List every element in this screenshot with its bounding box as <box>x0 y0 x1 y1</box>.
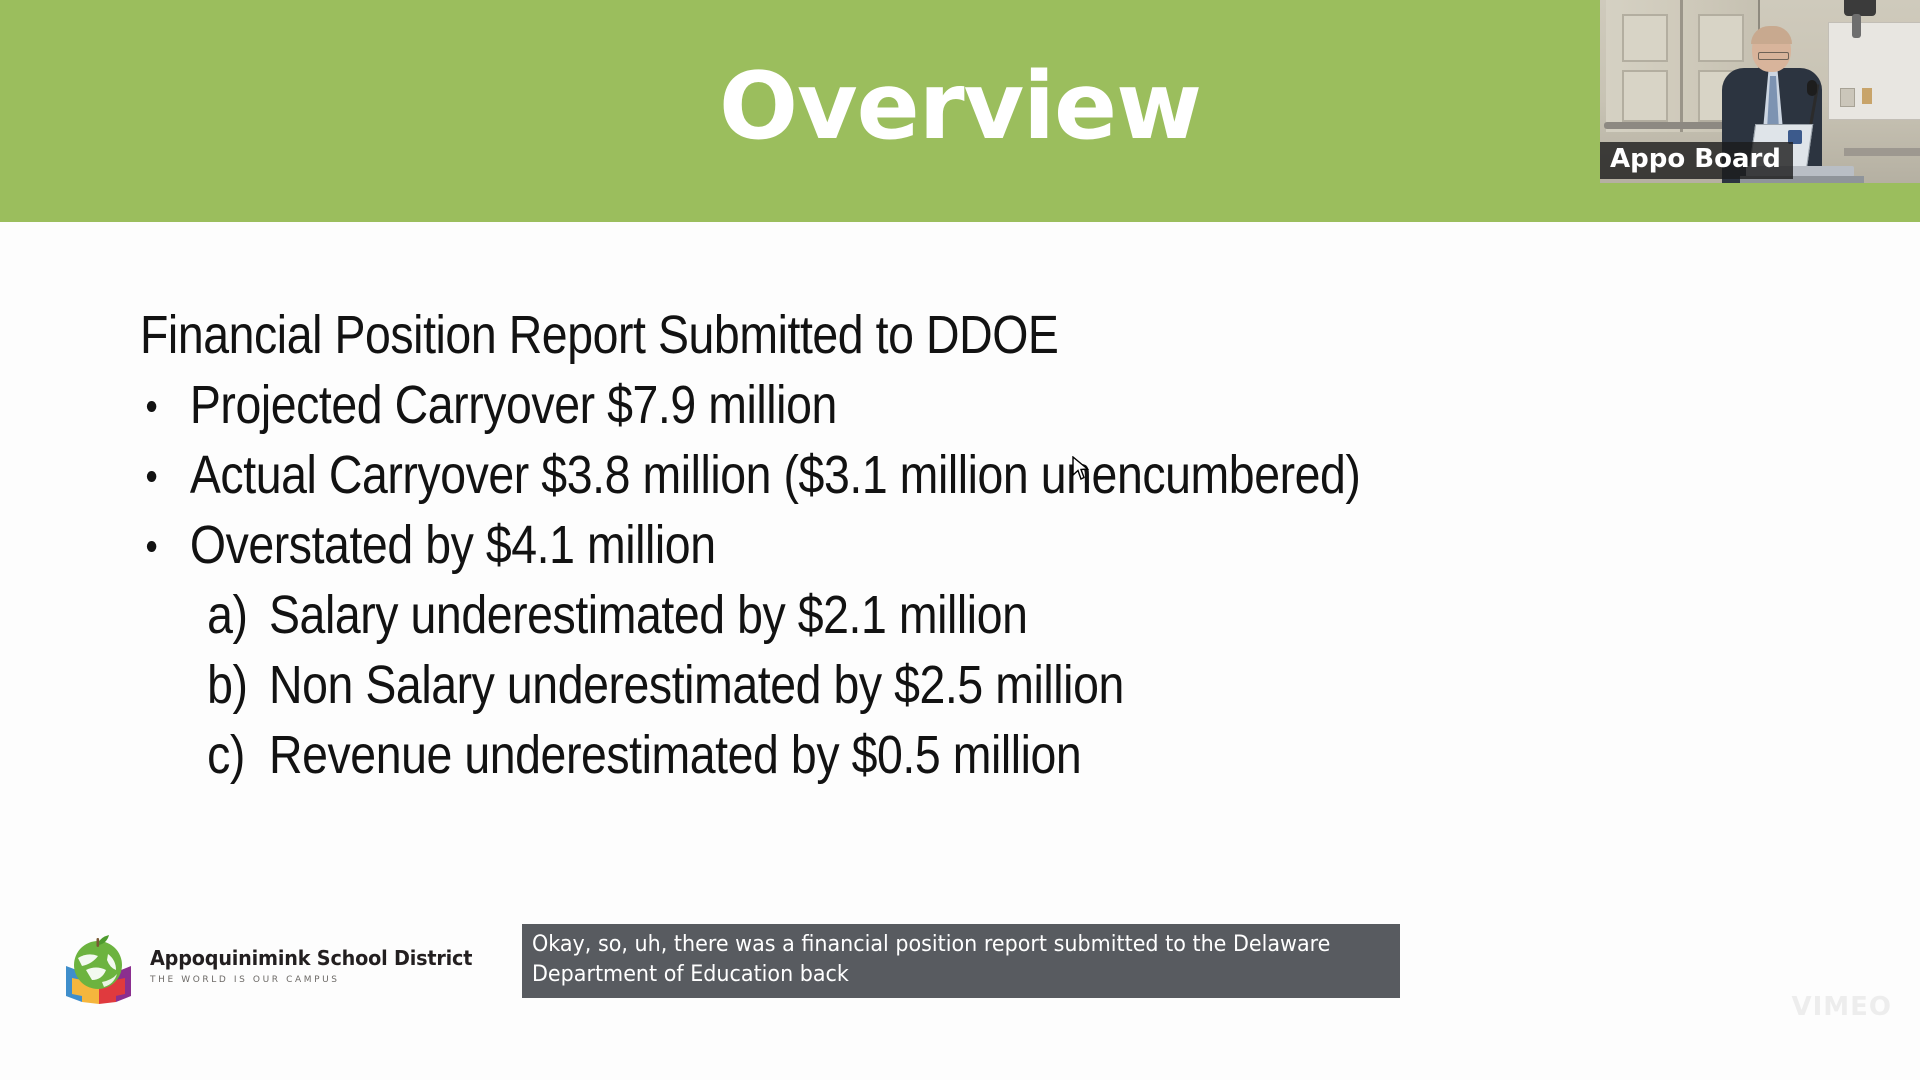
presentation-screen: Overview Appo Board Financ <box>0 0 1920 1080</box>
video-person-glasses <box>1758 52 1789 60</box>
bullet-text: Projected Carryover $7.9 million <box>190 375 837 435</box>
logo-text-block: Appoquinimink School District THE WORLD … <box>150 946 370 985</box>
slide-bullet-item-2: Actual Carryover $3.8 million ($3.1 mill… <box>140 440 1602 510</box>
bullet-dot-icon <box>147 401 156 412</box>
slide-sub-item-b: b) Non Salary underestimated by $2.5 mil… <box>140 650 1602 720</box>
video-wall-outlet-secondary <box>1862 88 1872 104</box>
corner-watermark: VIMEO <box>1791 992 1892 1022</box>
caption-line-1: Okay, so, uh, there was a financial posi… <box>532 930 1339 960</box>
video-wall-outlet <box>1840 88 1855 107</box>
video-microphone-head <box>1807 80 1817 96</box>
sub-item-text: Revenue underestimated by $0.5 million <box>207 720 1081 790</box>
sub-item-marker: a) <box>207 580 269 650</box>
sub-item-marker: c) <box>207 720 269 790</box>
logo-title: Appoquinimink School District <box>150 946 361 970</box>
video-speaker-stem <box>1852 14 1861 38</box>
video-counter <box>1844 148 1920 156</box>
caption-line-2: Department of Education back <box>532 960 1339 990</box>
school-district-logo-icon <box>62 932 136 1006</box>
logo-tagline: THE WORLD IS OUR CAMPUS <box>150 975 370 985</box>
slide-sub-item-c: c) Revenue underestimated by $0.5 millio… <box>140 720 1602 790</box>
district-logo: Appoquinimink School District THE WORLD … <box>62 932 362 1010</box>
caption-box: Okay, so, uh, there was a financial posi… <box>522 924 1400 998</box>
bullet-text: Overstated by $4.1 million <box>190 515 716 575</box>
video-door-split <box>1680 0 1683 132</box>
slide-lead-line: Financial Position Report Submitted to D… <box>140 300 1602 370</box>
slide-bullet-item-3: Overstated by $4.1 million <box>140 510 1602 580</box>
slide-bullet-item-1: Projected Carryover $7.9 million <box>140 370 1602 440</box>
video-source-label: Appo Board <box>1600 142 1793 179</box>
sub-item-marker: b) <box>207 650 269 720</box>
slide-body: Financial Position Report Submitted to D… <box>140 300 1840 790</box>
sub-item-text: Salary underestimated by $2.1 million <box>207 580 1027 650</box>
video-overlay[interactable]: Appo Board <box>1600 0 1920 183</box>
bullet-text: Actual Carryover $3.8 million ($3.1 mill… <box>190 445 1361 505</box>
bullet-dot-icon <box>147 541 156 552</box>
bullet-dot-icon <box>147 471 156 482</box>
video-ceiling-speaker <box>1844 0 1876 16</box>
video-door-panel <box>1622 70 1668 122</box>
video-door-panel <box>1622 14 1668 62</box>
slide-sub-item-a: a) Salary underestimated by $2.1 million <box>140 580 1602 650</box>
sub-item-text: Non Salary underestimated by $2.5 millio… <box>207 650 1124 720</box>
video-door-panel <box>1698 14 1744 62</box>
